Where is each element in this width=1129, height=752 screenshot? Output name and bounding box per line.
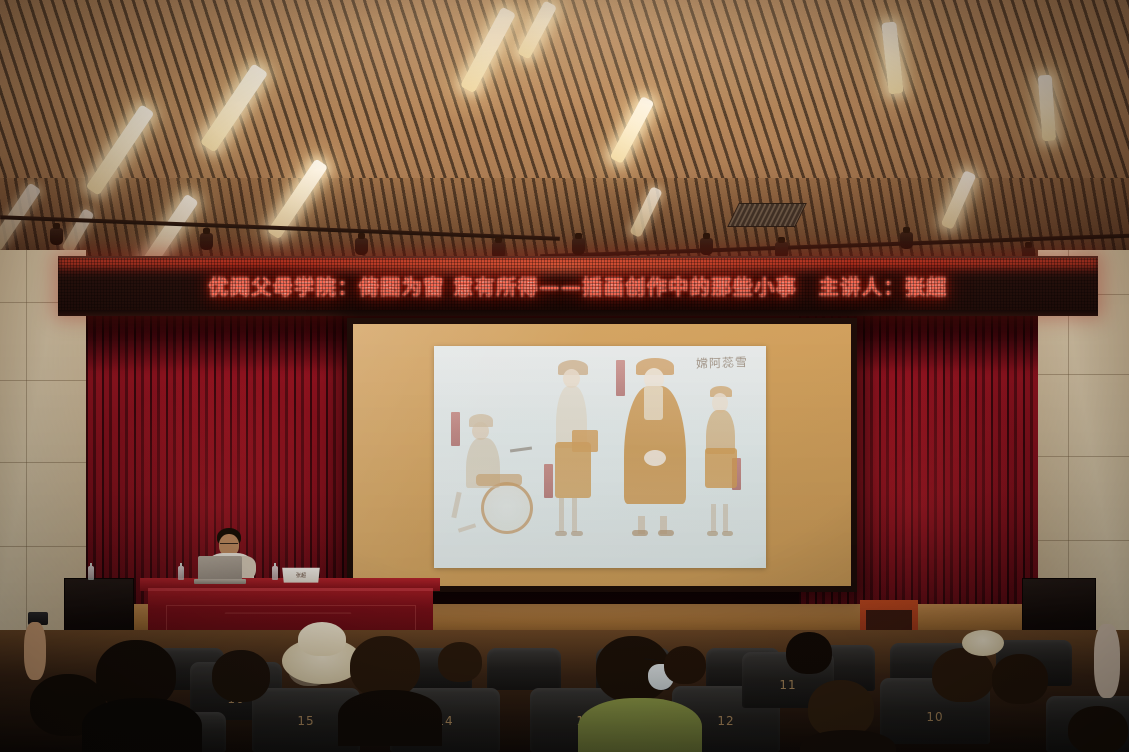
figure-leg	[572, 498, 577, 532]
presenter-glasses	[220, 543, 238, 548]
figure-inner-collar	[644, 386, 663, 420]
bottle-on-speaker	[88, 566, 94, 580]
audience-shoulders	[800, 730, 896, 752]
figure-skirt	[705, 448, 737, 488]
wheelchair-handle	[510, 446, 532, 452]
wheelchair-wheel	[481, 482, 533, 534]
slide-figure-satchel	[542, 360, 604, 536]
wheelchair-armrest	[476, 474, 522, 486]
track-spotlight	[50, 228, 63, 245]
audience-member-white-sunhat	[282, 622, 362, 688]
ceiling-air-vent	[727, 203, 807, 227]
seat[interactable]	[487, 648, 561, 690]
audience-head	[664, 646, 706, 684]
slide-figure-long-coat	[616, 358, 692, 536]
figure-satchel	[572, 430, 598, 452]
led-banner: 优阅父母学院：倚图为窗 意有所得——插画创作中的那些小事 主讲人：张超	[58, 256, 1098, 314]
sun-hat-brim	[962, 630, 1004, 656]
raised-arm	[1094, 624, 1120, 698]
presenter-nameplate-text: 张超	[283, 572, 320, 579]
figure-hat	[469, 414, 493, 427]
audience-member-raised-hand	[1090, 624, 1129, 704]
audience-member-child	[808, 680, 888, 752]
figure-shoe	[571, 531, 583, 536]
led-banner-text: 优阅父母学院：倚图为窗 意有所得——插画创作中的那些小事 主讲人：张超	[58, 271, 1098, 300]
audience-head	[350, 636, 420, 698]
slide-figure-tag	[451, 412, 460, 446]
water-bottle-right	[272, 566, 278, 580]
slide-figure-wheelchair	[448, 386, 538, 536]
presentation-slide: 嫦阿蕊雪	[434, 346, 766, 568]
audience-head	[1068, 706, 1128, 752]
audience-shoulders	[82, 698, 202, 752]
track-spotlight	[200, 233, 213, 250]
sun-hat-crown	[298, 622, 346, 656]
figure-leg	[723, 504, 728, 532]
audience-shoulders	[338, 690, 442, 746]
audience-shoulders-green-shirt	[578, 698, 702, 752]
auditorium-photo: 优阅父母学院：倚图为窗 意有所得——插画创作中的那些小事 主讲人：张超 嫦阿蕊雪	[0, 0, 1129, 752]
laptop-base	[194, 579, 246, 584]
figure-shoe	[632, 530, 648, 536]
track-spotlight	[355, 238, 368, 255]
figure-hands	[644, 450, 666, 466]
seat-number-label: 10	[880, 710, 990, 724]
audience-head	[212, 650, 270, 702]
track-spotlight	[572, 238, 585, 255]
slide-figure-tag	[616, 360, 625, 396]
presenter-nameplate: 张超	[282, 568, 320, 583]
audience-head	[438, 642, 482, 682]
audience-head	[992, 654, 1048, 704]
track-spotlight	[900, 232, 913, 249]
slide-figure-tag	[544, 464, 553, 498]
figure-shoe	[722, 531, 733, 536]
figure-shoe	[555, 531, 567, 536]
figure-leg	[711, 504, 716, 532]
led-banner-frame-bottom	[58, 310, 1098, 316]
projection-screen-surface: 嫦阿蕊雪	[353, 324, 851, 586]
audience-head	[786, 632, 832, 674]
slide-figure-girl-with-bag	[698, 386, 756, 536]
water-bottle-left	[178, 566, 184, 580]
slide-calligraphy-title: 嫦阿蕊雪	[696, 353, 749, 372]
figure-shoe	[707, 531, 718, 536]
raised-arm	[24, 622, 46, 680]
figure-leg	[458, 523, 476, 532]
audience-head	[932, 648, 994, 702]
track-spotlight	[700, 238, 713, 255]
figure-shoe	[658, 530, 674, 536]
figure-leg	[559, 498, 564, 532]
figure-leg	[451, 492, 461, 518]
projection-screen: 嫦阿蕊雪	[347, 318, 857, 592]
